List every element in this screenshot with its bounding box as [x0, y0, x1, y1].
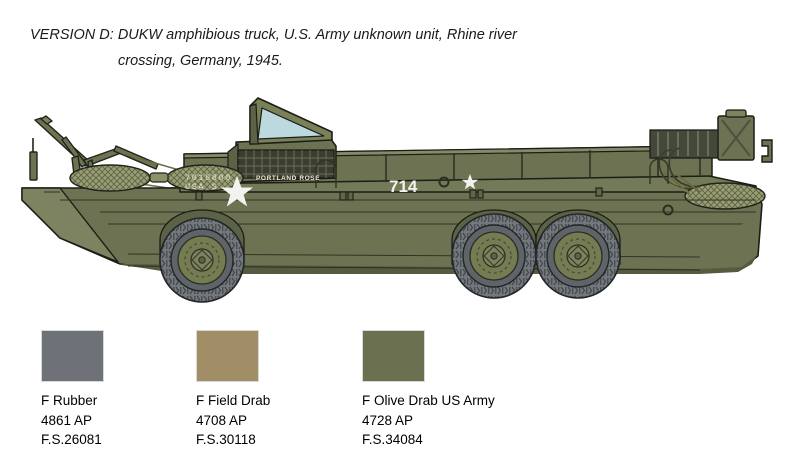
paint-chip-0 — [41, 330, 104, 382]
version-caption: VERSION D: DUKW amphibious truck, U.S. A… — [0, 22, 660, 74]
stern-bracket — [762, 140, 772, 162]
paint-name-0: F Rubber — [41, 391, 104, 411]
wheel-rear-aft — [536, 214, 620, 298]
caption-line-1: VERSION D: DUKW amphibious truck, U.S. A… — [0, 22, 660, 48]
paint-name-2: F Olive Drab US Army — [362, 391, 495, 411]
wheel-front — [160, 218, 244, 302]
paint-code-1: 4708 AP — [196, 411, 270, 431]
net-bundle-connector — [150, 173, 168, 182]
paint-swatch-1: F Field Drab 4708 AP F.S.30118 — [196, 330, 270, 450]
cab-grille-panel — [238, 150, 334, 178]
paint-name-1: F Field Drab — [196, 391, 270, 411]
marking-unit-number: 714 — [389, 177, 418, 196]
marking-nose-art: PORTLAND ROSE — [256, 175, 320, 182]
hull-body — [22, 188, 762, 274]
caption-line-2: crossing, Germany, 1945. — [0, 48, 660, 74]
paint-code-2: 4728 AP — [362, 411, 495, 431]
vehicle-profile-illustration: 7015800 USA S PORTLAND ROSE 714 — [0, 88, 800, 308]
paint-color-legend: F Rubber 4861 AP F.S.26081 F Field Drab … — [0, 330, 800, 470]
stern-jerry-can — [718, 110, 754, 160]
paint-code-0: 4861 AP — [41, 411, 104, 431]
paint-fs-0: F.S.26081 — [41, 430, 104, 450]
net-bundle-bow-front — [70, 165, 150, 191]
paint-fs-1: F.S.30118 — [196, 430, 270, 450]
paint-chip-1 — [196, 330, 259, 382]
paint-fs-2: F.S.34084 — [362, 430, 495, 450]
paint-swatch-0: F Rubber 4861 AP F.S.26081 — [41, 330, 104, 450]
paint-swatch-2: F Olive Drab US Army 4728 AP F.S.34084 — [362, 330, 495, 450]
marking-service-line: USA S — [185, 182, 219, 192]
paint-chip-2 — [362, 330, 425, 382]
wheel-rear-forward — [452, 214, 536, 298]
